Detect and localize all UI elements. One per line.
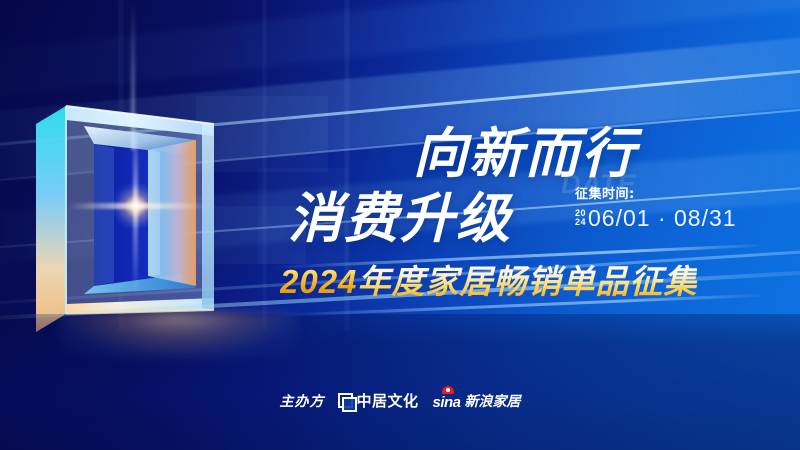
sponsor-footer: 主办方 中居文化 sina 新浪家居 [0, 390, 800, 411]
doorway-graphic [36, 86, 246, 334]
organizer-label: 主办方 [279, 391, 324, 411]
date-year-bottom: 24 [575, 218, 586, 227]
sina-wordmark-text: sina [433, 394, 461, 411]
date-year: 20 24 [575, 209, 586, 227]
sponsor-sina: sina 新浪家居 [433, 391, 521, 411]
sina-wordmark: sina [433, 391, 461, 411]
sina-eye-icon [442, 386, 454, 394]
campaign-subtitle-bar: 2024年度家居畅销单品征集 [280, 262, 750, 304]
sponsor-zhongju-label: 中居文化 [356, 390, 418, 411]
date-block: DATE 征集时间: 20 24 06/01 · 08/31 [575, 183, 785, 230]
zhongju-logo-icon [338, 393, 353, 408]
campaign-subtitle: 2024年度家居畅销单品征集 [280, 262, 697, 302]
floor-reflection [0, 314, 800, 450]
campaign-name: 年度家居畅销单品征集 [357, 262, 697, 301]
date-label: 征集时间: [575, 183, 785, 202]
sponsor-sina-label: 新浪家居 [465, 391, 521, 411]
sponsor-zhongju: 中居文化 [338, 390, 418, 411]
date-range: 06/01 · 08/31 [588, 207, 737, 230]
date-value-row: 20 24 06/01 · 08/31 [575, 207, 785, 230]
campaign-year: 2024 [280, 263, 357, 300]
promo-banner: 向新而行 消费升级 DATE 征集时间: 20 24 06/01 · 08/31… [0, 0, 800, 450]
page-subtitle: 消费升级 [288, 174, 512, 253]
